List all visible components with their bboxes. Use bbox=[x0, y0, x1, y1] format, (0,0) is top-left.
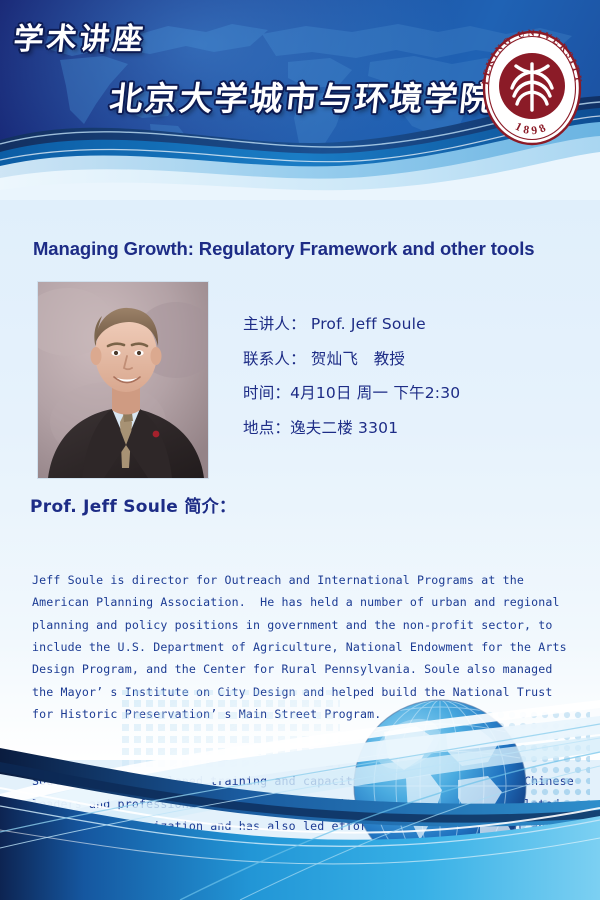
info-row-location: 地点：逸夫二楼 3301 bbox=[243, 416, 583, 438]
lecture-poster: 学术讲座 北京大学城市与环境学院 PEKING UNIVERSITY 1898 bbox=[0, 0, 600, 900]
institution-name: 北京大学城市与环境学院 bbox=[107, 72, 497, 120]
poster-footer-graphic bbox=[0, 690, 600, 900]
info-row-contact: 联系人： 贺灿飞 教授 bbox=[243, 347, 583, 369]
portrait-image bbox=[38, 282, 208, 478]
lecture-info-block: 主讲人： Prof. Jeff Soule 联系人： 贺灿飞 教授 时间：4月1… bbox=[243, 312, 583, 450]
banner-label-academic-lecture: 学术讲座 bbox=[12, 14, 149, 58]
blue-wave-ribbons-footer bbox=[0, 690, 600, 900]
speaker-portrait bbox=[37, 281, 209, 479]
bio-heading: Prof. Jeff Soule 简介： bbox=[30, 492, 236, 517]
info-row-time: 时间：4月10日 周一 下午2:30 bbox=[243, 381, 583, 403]
lecture-title: Managing Growth: Regulatory Framework an… bbox=[33, 238, 573, 260]
pku-seal-logo: PEKING UNIVERSITY 1898 bbox=[476, 24, 588, 152]
info-row-speaker: 主讲人： Prof. Jeff Soule bbox=[243, 312, 583, 334]
